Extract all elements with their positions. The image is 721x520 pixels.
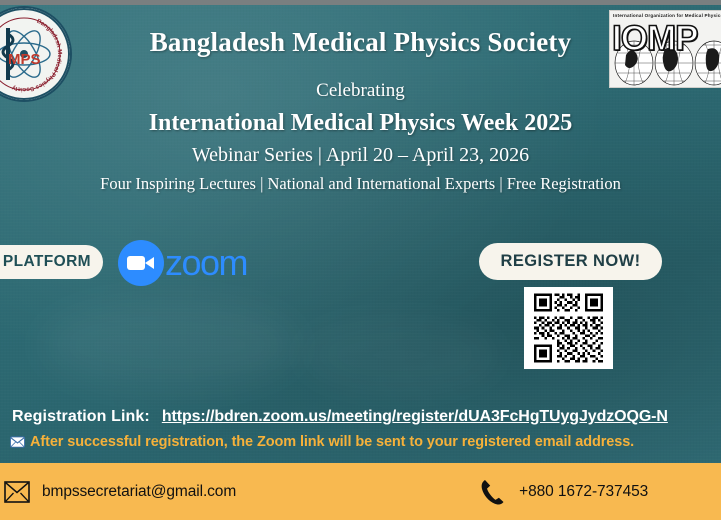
background-blotch-2: [300, 320, 500, 390]
registration-link-row: Registration Link: https://bdren.zoom.us…: [12, 408, 721, 426]
iomp-logo: International Organization for Medical P…: [609, 10, 721, 88]
svg-text:MPS: MPS: [8, 51, 41, 68]
highlights-line: Four Inspiring Lectures | National and I…: [0, 174, 721, 194]
contact-footer: bmpssecretariat@gmail.com +880 1672-7374…: [0, 463, 721, 520]
registration-qr-code[interactable]: [524, 287, 613, 369]
poster-canvas: MPS Bangladesh Medical Physics Society: [0, 0, 721, 520]
platform-pill-label: PLATFORM: [3, 253, 91, 271]
registration-link-label: Registration Link:: [12, 408, 150, 426]
zoom-wordmark: zoom: [165, 245, 247, 281]
registration-note-row: After successful registration, the Zoom …: [10, 434, 721, 450]
event-title: International Medical Physics Week 2025: [0, 110, 721, 137]
footer-email-item[interactable]: bmpssecretariat@gmail.com: [4, 481, 236, 503]
register-now-button[interactable]: REGISTER NOW!: [479, 243, 662, 280]
series-dates-line: Webinar Series | April 20 – April 23, 20…: [0, 144, 721, 167]
phone-icon: [480, 478, 506, 506]
registration-link-url[interactable]: https://bdren.zoom.us/meeting/register/d…: [162, 408, 668, 426]
envelope-icon: [4, 481, 30, 503]
background-blotch-1: [40, 300, 300, 390]
platform-pill: PLATFORM: [0, 245, 103, 279]
footer-email-text: bmpssecretariat@gmail.com: [42, 483, 236, 501]
registration-note-text: After successful registration, the Zoom …: [30, 434, 634, 450]
envelope-icon: [10, 436, 25, 448]
top-border-strip: [0, 0, 721, 5]
footer-phone-text: +880 1672-737453: [519, 483, 648, 501]
zoom-logo: zoom: [118, 240, 247, 286]
zoom-camera-icon: [118, 240, 164, 286]
iomp-caption: International Organization for Medical P…: [613, 13, 721, 18]
footer-phone-item[interactable]: +880 1672-737453: [480, 478, 648, 506]
iomp-wordmark: IOMP: [612, 19, 697, 59]
